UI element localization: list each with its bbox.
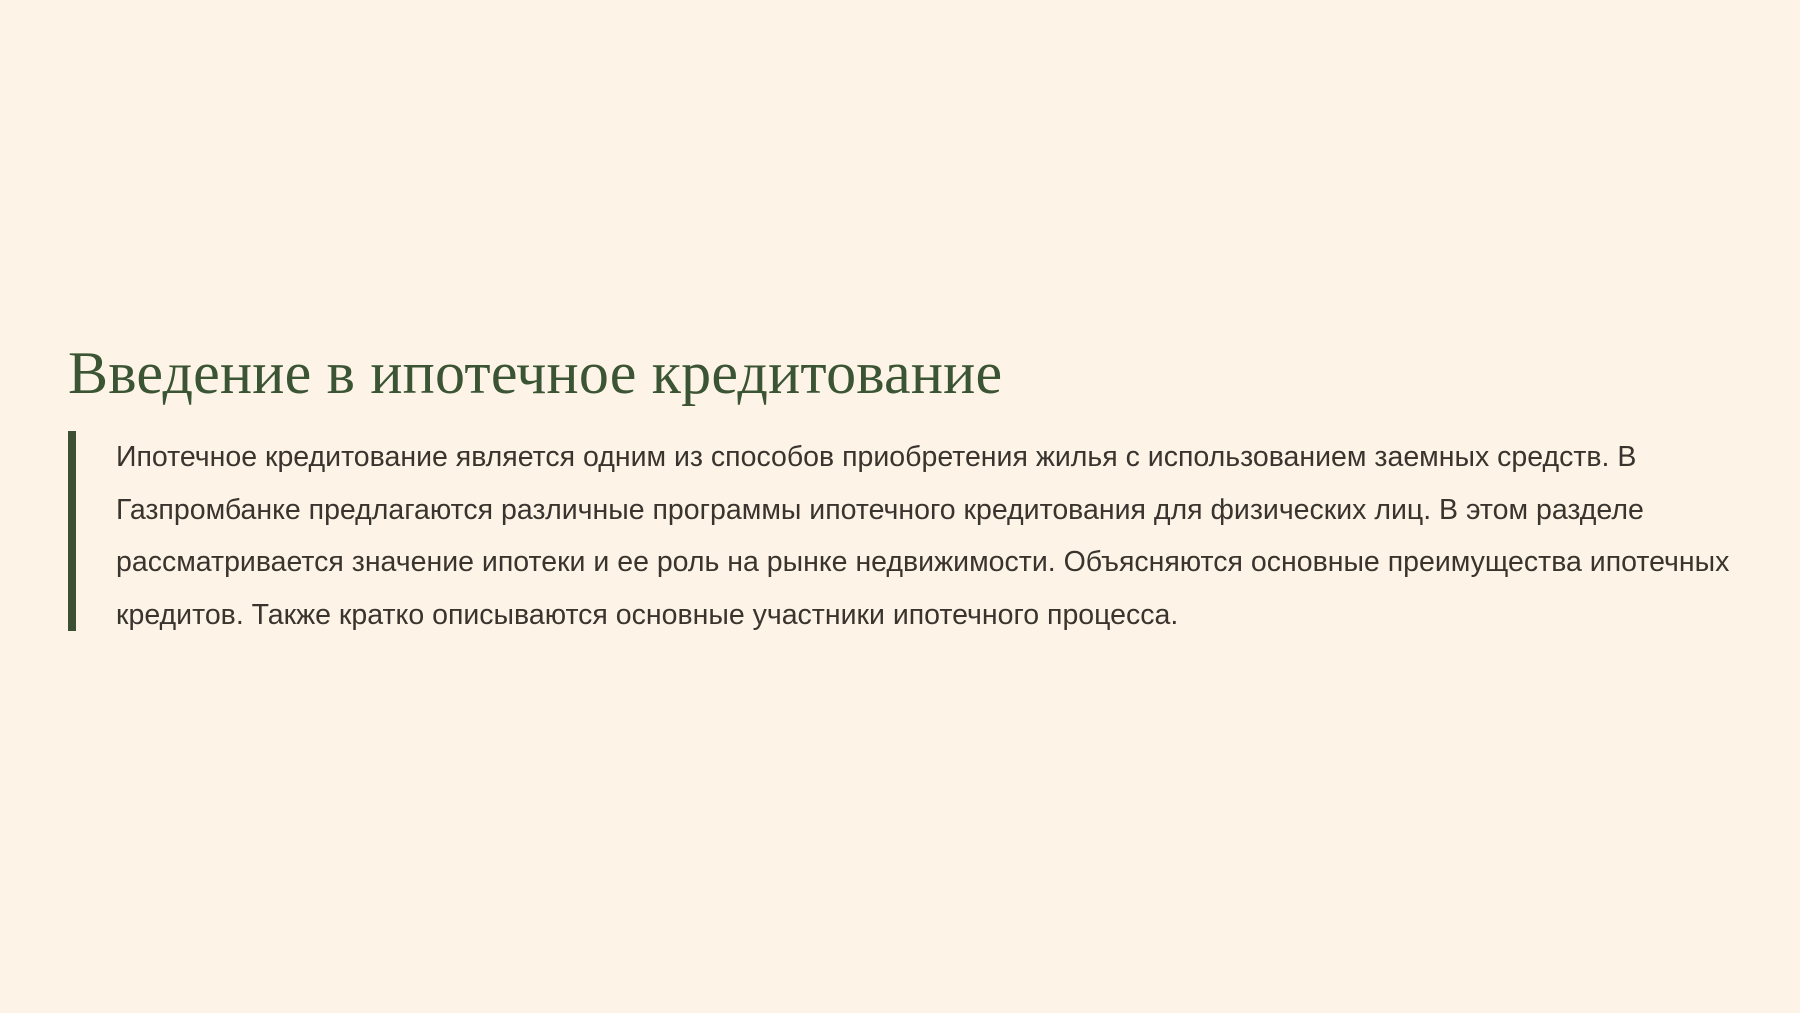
slide-canvas: Введение в ипотечное кредитование Ипотеч…: [0, 0, 1800, 1013]
body-quote-block: Ипотечное кредитование является одним из…: [68, 431, 1732, 641]
body-paragraph: Ипотечное кредитование является одним из…: [116, 431, 1732, 641]
content-block: Введение в ипотечное кредитование Ипотеч…: [68, 340, 1732, 641]
left-accent-bar: [68, 431, 76, 631]
page-title: Введение в ипотечное кредитование: [68, 340, 1732, 407]
